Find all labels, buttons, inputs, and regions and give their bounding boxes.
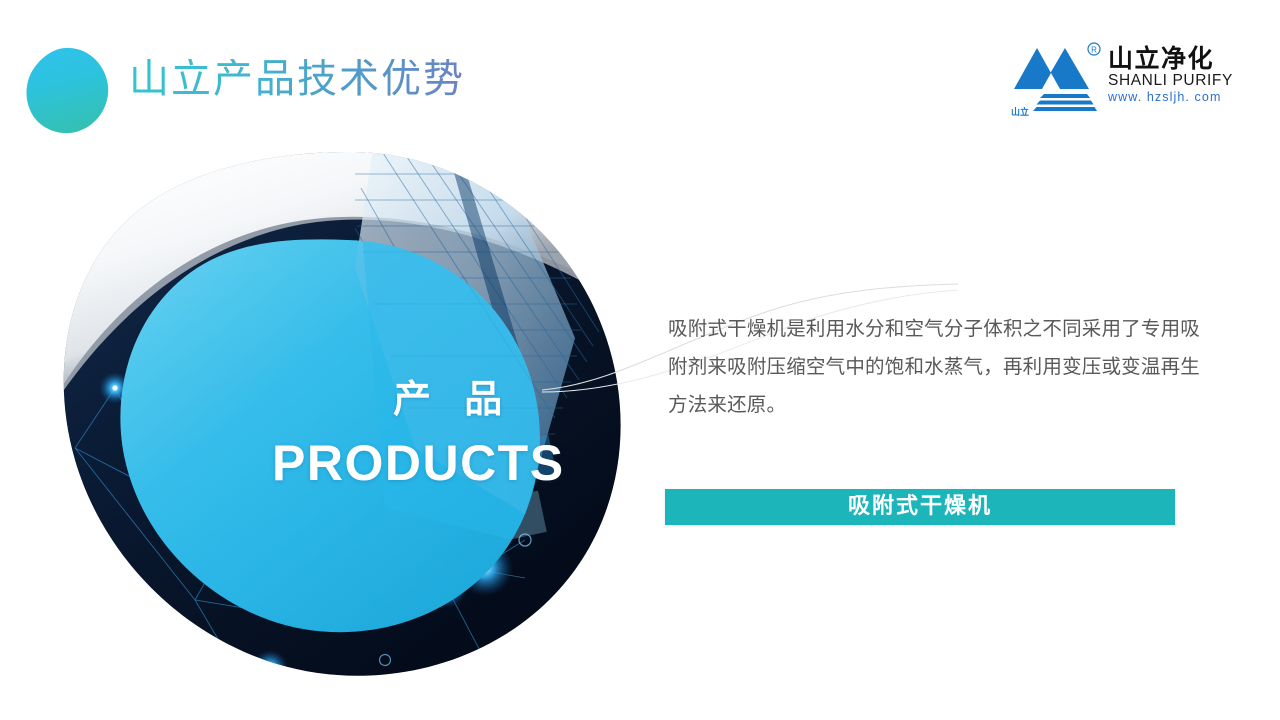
logo-company-name-cn: 山立净化	[1108, 46, 1242, 72]
page-title: 山立产品技术优势	[129, 59, 465, 99]
logo-website-url[interactable]: www. hzsljh. com	[1108, 90, 1242, 105]
products-artwork-graphic	[55, 148, 625, 684]
slide-root: 山立产品技术优势 R 山立 山立净化 SHANLI PURIFY	[0, 0, 1280, 720]
svg-text:R: R	[1091, 45, 1097, 54]
company-logo: R 山立 山立净化 SHANLI PURIFY www. hzsljh. com	[1010, 40, 1242, 120]
artwork-title-cn: 产 品	[393, 378, 512, 420]
logo-company-name-en: SHANLI PURIFY	[1108, 72, 1242, 89]
logo-text-block: 山立净化 SHANLI PURIFY www. hzsljh. com	[1108, 46, 1242, 105]
logo-mark-label: 山立	[1011, 105, 1029, 118]
product-name-banner[interactable]: 吸附式干燥机	[665, 489, 1175, 525]
product-description-paragraph: 吸附式干燥机是利用水分和空气分子体积之不同采用了专用吸附剂来吸附压缩空气中的饱和…	[668, 310, 1200, 424]
artwork-title-en: PRODUCTS	[272, 435, 565, 491]
header-decorative-blob-icon	[24, 47, 109, 134]
product-name-banner-label: 吸附式干燥机	[848, 496, 992, 518]
